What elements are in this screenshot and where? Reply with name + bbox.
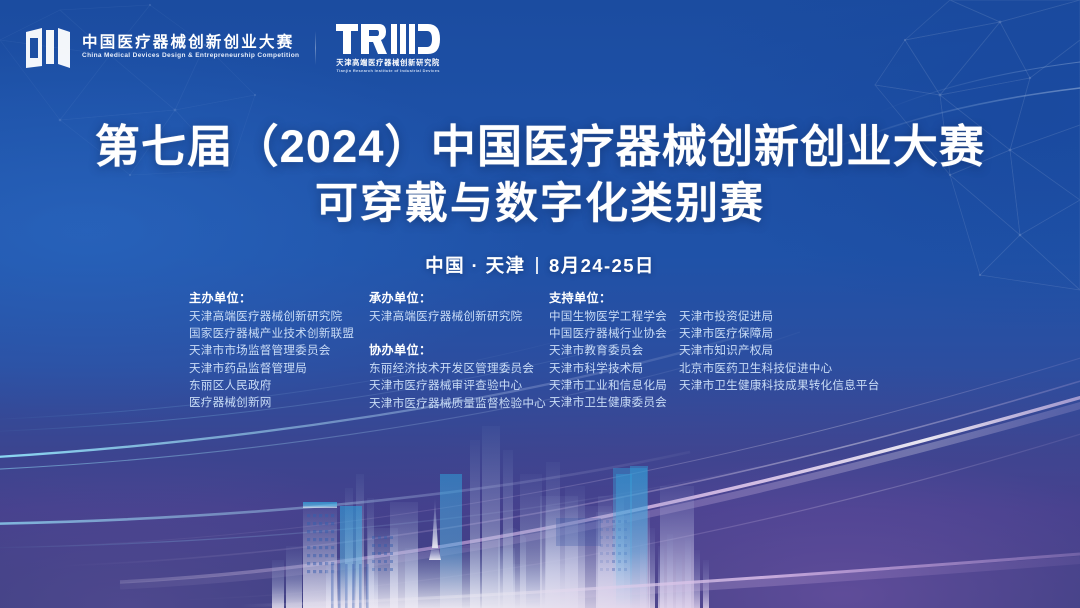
organizer-column: 主办单位： 天津高端医疗器械创新研究院 国家医疗器械产业技术创新联盟 天津市市场…	[189, 290, 369, 412]
open-book-door-logo-mark-icon	[24, 26, 72, 70]
triid-logo: 天津高端医疗器械创新研究院 Tianjin Research Institute…	[336, 22, 440, 73]
event-subtitle: 中国 · 天津 8月24-25日	[0, 252, 1080, 278]
supporter-item: 天津市卫生健康委员会	[549, 394, 679, 411]
supporter-sub-column-right: 天津市投资促进局 天津市医疗保障局 天津市知识产权局 北京市医药卫生科技促进中心…	[679, 290, 891, 412]
organizations-section: 主办单位： 天津高端医疗器械创新研究院 国家医疗器械产业技术创新联盟 天津市市场…	[0, 290, 1080, 412]
logo-divider	[315, 31, 316, 65]
cmdc-logo-en-name: China Medical Devices Design & Entrepren…	[82, 53, 299, 60]
supporter-item: 天津市投资促进局	[679, 308, 891, 325]
page-title-line-1: 第七届（2024）中国医疗器械创新创业大赛	[0, 118, 1080, 177]
organizer-heading: 主办单位：	[189, 290, 369, 307]
supporter-item: 天津市科学技术局	[549, 360, 679, 377]
organizer-item: 国家医疗器械产业技术创新联盟	[189, 325, 369, 342]
coorganizer-heading: 协办单位：	[369, 342, 549, 359]
page-title-line-2: 可穿戴与数字化类别赛	[0, 177, 1080, 233]
triid-wordmark-icon	[336, 22, 440, 56]
triid-logo-en-name: Tianjin Research Institute of Industrial…	[337, 69, 440, 73]
organizer-item: 医疗器械创新网	[189, 394, 369, 411]
host-column: 承办单位： 天津高端医疗器械创新研究院 协办单位： 东丽经济技术开发区管理委员会…	[369, 290, 549, 412]
supporter-item: 天津市知识产权局	[679, 342, 891, 359]
organizer-item: 天津高端医疗器械创新研究院	[189, 308, 369, 325]
subtitle-separator	[536, 257, 538, 274]
event-location: 中国 · 天津	[425, 252, 525, 278]
supporter-item: 中国医疗器械行业协会	[549, 325, 679, 342]
triid-logo-cn-name: 天津高端医疗器械创新研究院	[336, 59, 440, 66]
supporter-item: 天津市医疗保障局	[679, 325, 891, 342]
supporter-heading-spacer	[679, 290, 891, 307]
organizer-item: 天津市药品监督管理局	[189, 360, 369, 377]
organizer-item: 天津市市场监督管理委员会	[189, 342, 369, 359]
supporter-item: 天津市教育委员会	[549, 342, 679, 359]
supporter-heading: 支持单位：	[549, 290, 679, 307]
supporter-column: 支持单位： 中国生物医学工程学会 中国医疗器械行业协会 天津市教育委员会 天津市…	[549, 290, 891, 412]
title-block: 第七届（2024）中国医疗器械创新创业大赛 可穿戴与数字化类别赛 中国 · 天津…	[0, 118, 1080, 278]
cmdc-logo: 中国医疗器械创新创业大赛 China Medical Devices Desig…	[24, 26, 295, 70]
coorganizer-item: 天津市医疗器械审评查验中心	[369, 377, 549, 394]
supporter-item: 天津市卫生健康科技成果转化信息平台	[679, 377, 891, 394]
organizer-item: 东丽区人民政府	[189, 377, 369, 394]
host-heading: 承办单位：	[369, 290, 549, 307]
host-item: 天津高端医疗器械创新研究院	[369, 308, 549, 325]
coorganizer-item: 天津市医疗器械质量监督检验中心	[369, 395, 549, 412]
coorganizer-item: 东丽经济技术开发区管理委员会	[369, 360, 549, 377]
background-purple-glow-left	[0, 408, 1080, 608]
event-date: 8月24-25日	[549, 252, 655, 278]
cmdc-logo-cn-name: 中国医疗器械创新创业大赛	[82, 35, 295, 51]
supporter-item: 天津市工业和信息化局	[549, 377, 679, 394]
event-poster: 中国医疗器械创新创业大赛 China Medical Devices Desig…	[0, 0, 1080, 608]
supporter-sub-column-left: 支持单位： 中国生物医学工程学会 中国医疗器械行业协会 天津市教育委员会 天津市…	[549, 290, 679, 412]
column-spacer	[369, 325, 549, 342]
supporter-item: 北京市医药卫生科技促进中心	[679, 360, 891, 377]
supporter-item: 中国生物医学工程学会	[549, 308, 679, 325]
header-logos: 中国医疗器械创新创业大赛 China Medical Devices Desig…	[24, 22, 440, 73]
